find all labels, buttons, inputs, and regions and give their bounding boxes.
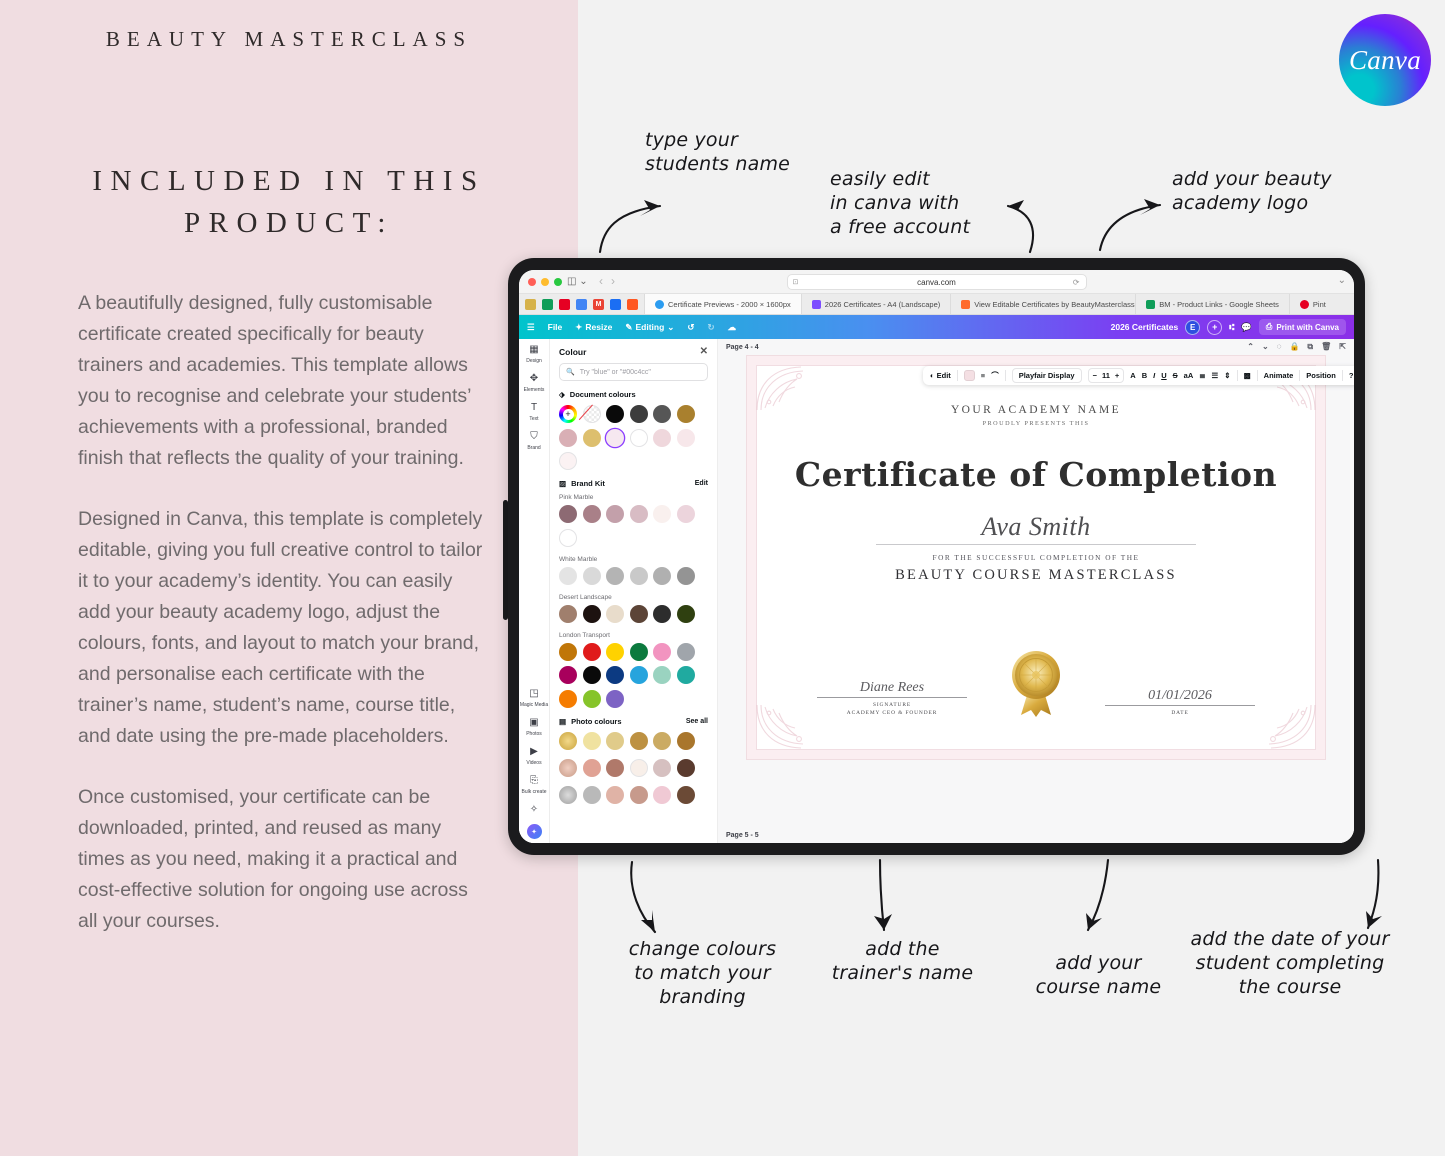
- strikethrough-button[interactable]: S: [1173, 371, 1178, 380]
- colour-swatch[interactable]: [630, 405, 648, 423]
- avatar[interactable]: E: [1185, 320, 1200, 335]
- minimize-window-icon[interactable]: [541, 278, 549, 286]
- certificate-title[interactable]: Certificate of Completion: [795, 455, 1277, 494]
- animate-button[interactable]: Animate: [1264, 371, 1294, 380]
- page-action-icons: ⌃ ⌄ ◌ 🔒 ⧉ 🗑 ⇱: [1247, 342, 1346, 352]
- rail-avatar-icon[interactable]: ✦: [527, 824, 542, 839]
- resize-label: Resize: [585, 322, 612, 332]
- divider: [1237, 370, 1238, 381]
- browser-window-actions[interactable]: ⌄: [1338, 275, 1346, 286]
- colour-swatch[interactable]: [653, 759, 671, 777]
- text-icon: T: [527, 400, 542, 415]
- tab-favicon-icon: [1300, 300, 1309, 309]
- colour-swatch[interactable]: [677, 666, 695, 684]
- document-colours-icon: ⬗: [559, 390, 565, 399]
- add-collaborator-icon[interactable]: +: [1207, 320, 1222, 335]
- position-button[interactable]: Position: [1306, 371, 1336, 380]
- tab-label: View Editable Certificates by BeautyMast…: [974, 300, 1135, 309]
- sidebar-item-label: Bulk create: [521, 789, 546, 795]
- colour-swatch[interactable]: [583, 505, 601, 523]
- divider: [1342, 370, 1343, 381]
- colour-swatch[interactable]: [606, 666, 624, 684]
- colour-swatch[interactable]: [583, 643, 601, 661]
- colour-swatch[interactable]: [653, 405, 671, 423]
- divider: [1005, 370, 1006, 381]
- tab-favicon-icon: [961, 300, 970, 309]
- gold-seal-icon[interactable]: [1005, 649, 1067, 717]
- certificate-date[interactable]: 01/01/2026: [1105, 688, 1255, 704]
- design-icon: ▦: [527, 342, 542, 357]
- edit-label: Edit: [937, 371, 951, 380]
- transparent-swatch[interactable]: [583, 405, 601, 423]
- colour-swatch[interactable]: [606, 759, 624, 777]
- page-header-row: Page 4 - 4 ⌃ ⌄ ◌ 🔒 ⧉ 🗑 ⇱: [718, 339, 1354, 355]
- annotation-add-course-name: add your course name: [1026, 952, 1171, 1000]
- decrease-font-size-button[interactable]: −: [1093, 371, 1097, 380]
- colour-swatch[interactable]: [559, 666, 577, 684]
- colour-swatch[interactable]: [583, 732, 601, 750]
- annotation-add-academy-logo: add your beauty academy logo: [1172, 168, 1372, 216]
- curve-text-icon[interactable]: ⌒: [991, 370, 999, 381]
- divider: [1257, 370, 1258, 381]
- address-bar[interactable]: ⊡ canva.com ⟳: [787, 274, 1087, 290]
- font-size-stepper[interactable]: − 11 +: [1088, 368, 1125, 383]
- colour-swatch[interactable]: [653, 643, 671, 661]
- colour-swatch[interactable]: [677, 786, 695, 804]
- date-line: [1105, 705, 1255, 706]
- colour-swatch[interactable]: [606, 690, 624, 708]
- font-size-value: 11: [1102, 371, 1110, 380]
- bullet-list-icon[interactable]: ☰: [1212, 371, 1219, 380]
- poster-page: BEAUTY MASTERCLASS INCLUDED IN THIS PROD…: [0, 0, 1445, 1156]
- align-icon[interactable]: ≡: [981, 371, 985, 380]
- move-down-icon[interactable]: ⌄: [1262, 342, 1269, 352]
- redo-icon[interactable]: ↻: [708, 322, 715, 333]
- tab-label: Certificate Previews - 2000 × 1600px: [668, 300, 791, 309]
- duplicate-page-icon[interactable]: ⧉: [1307, 342, 1313, 352]
- signature-line: [817, 697, 967, 698]
- description-copy: A beautifully designed, fully customisab…: [78, 288, 490, 967]
- effects-icon[interactable]: ▩: [1244, 371, 1251, 380]
- bold-button[interactable]: B: [1142, 371, 1147, 380]
- colour-swatch[interactable]: [583, 567, 601, 585]
- url-text: canva.com: [917, 278, 956, 287]
- videos-icon: ▶: [527, 744, 542, 759]
- close-window-icon[interactable]: [528, 278, 536, 286]
- brand-title: BEAUTY MASTERCLASS: [0, 24, 578, 56]
- browser-titlebar: ◫ ⌄ ‹› ⊡ canva.com ⟳ ⌄: [519, 270, 1354, 294]
- annotation-add-date: add the date of your student completing …: [1170, 928, 1410, 1000]
- colour-swatch[interactable]: [653, 732, 671, 750]
- colour-swatch[interactable]: [630, 605, 648, 623]
- photo-thumbnail-icon[interactable]: [559, 759, 577, 777]
- reload-icon[interactable]: ⟳: [1073, 278, 1080, 287]
- colour-swatch[interactable]: [677, 505, 695, 523]
- sidebar-item-magic-media[interactable]: ◳ Magic Media: [519, 686, 549, 708]
- text-align-icon[interactable]: ≣: [1199, 371, 1205, 380]
- signature-caption: SIGNATURE ACADEMY CEO & FOUNDER: [817, 701, 967, 717]
- elements-icon: ✥: [527, 371, 542, 386]
- canva-logo: Canva: [1339, 14, 1431, 106]
- colour-swatch[interactable]: [653, 429, 671, 447]
- colour-swatch[interactable]: [630, 666, 648, 684]
- colour-panel: Colour ✕ 🔍 Try "blue" or "#00c4cc" ⬗ Doc…: [550, 339, 718, 843]
- student-name-underline: [876, 544, 1196, 545]
- canva-canvas-area: ◐ Edit ≡ ⌒ Playfair Display − 11 + A: [718, 339, 1354, 843]
- colour-swatch[interactable]: [630, 429, 648, 447]
- colour-swatch[interactable]: [583, 786, 601, 804]
- reader-view-icon[interactable]: ⊡: [793, 278, 799, 286]
- header-right-actions: 2026 Certificates E + ⑆ 💬 ⎙ Print with C…: [1111, 319, 1346, 335]
- close-icon[interactable]: ✕: [700, 346, 708, 357]
- font-colour-icon[interactable]: A: [1130, 371, 1135, 380]
- text-colour-button[interactable]: [964, 370, 975, 381]
- colour-swatch[interactable]: [606, 786, 624, 804]
- photo-colours-header: ▤ Photo colours See all: [559, 717, 708, 726]
- palette-desert-landscape: [559, 605, 708, 623]
- resize-button[interactable]: ✦ Resize: [575, 322, 612, 333]
- page-label-top: Page 4 - 4: [726, 344, 759, 351]
- brand-kit-edit-link[interactable]: Edit: [695, 480, 708, 487]
- tab-label: 2026 Certificates - A4 (Landscape): [825, 300, 940, 309]
- colour-swatch[interactable]: [630, 567, 648, 585]
- signature-block[interactable]: Diane Rees SIGNATURE ACADEMY CEO & FOUND…: [817, 680, 967, 717]
- browser-tabstrip: M Certificate Previews - 2000 × 1600px 2…: [519, 294, 1354, 315]
- font-family-dropdown[interactable]: Playfair Display: [1012, 368, 1082, 383]
- sidebar-item-bulk-create[interactable]: ⎘ Bulk create: [519, 773, 549, 795]
- colour-swatch[interactable]: [677, 605, 695, 623]
- editing-label: Editing: [635, 322, 664, 332]
- brand-kit-icon: ▨: [559, 479, 566, 488]
- favicon-bookmark-5[interactable]: M: [593, 299, 604, 310]
- colour-swatch[interactable]: [653, 605, 671, 623]
- canva-left-rail: ▦ Design ✥ Elements T Text ⛉ Brand: [519, 339, 550, 843]
- colour-swatch[interactable]: [653, 505, 671, 523]
- browser-tab-pinterest[interactable]: Pint: [1289, 294, 1336, 314]
- photo-colours-row-2: [559, 759, 708, 777]
- edit-image-button[interactable]: ◐ Edit: [930, 371, 951, 380]
- annotation-add-trainers-name: add the trainer's name: [820, 938, 985, 986]
- colour-swatch[interactable]: [653, 786, 671, 804]
- tablet-screen: ◫ ⌄ ‹› ⊡ canva.com ⟳ ⌄ M: [519, 270, 1354, 843]
- colour-swatch[interactable]: [606, 605, 624, 623]
- canva-logo-text: Canva: [1349, 45, 1421, 76]
- undo-icon[interactable]: ↺: [687, 322, 694, 333]
- colour-swatch[interactable]: [606, 405, 624, 423]
- tab-favicon-icon: [655, 300, 664, 309]
- browser-nav-buttons[interactable]: ‹›: [599, 274, 623, 288]
- analytics-icon[interactable]: ⑆: [1229, 322, 1234, 332]
- colour-swatch[interactable]: [630, 505, 648, 523]
- colour-swatch-selected[interactable]: [606, 429, 624, 447]
- colour-swatch[interactable]: [630, 786, 648, 804]
- favicon-bookmark-1[interactable]: [525, 299, 536, 310]
- sidebar-item-photos[interactable]: ▣ Photos: [519, 715, 549, 737]
- browser-tab-view-editable-certificates[interactable]: View Editable Certificates by BeautyMast…: [950, 294, 1135, 314]
- document-colours-swatches: +: [559, 405, 708, 470]
- tab-favicon-icon: [1146, 300, 1155, 309]
- print-label: Print with Canva: [1276, 323, 1339, 332]
- colour-swatch[interactable]: [630, 759, 648, 777]
- colour-swatch[interactable]: [559, 429, 577, 447]
- paragraph-2: Designed in Canva, this template is comp…: [78, 504, 490, 752]
- page-footer-row: Page 5 - 5: [718, 828, 1354, 843]
- certificate-design[interactable]: YOUR ACADEMY NAME PROUDLY PRESENTS THIS …: [746, 355, 1326, 760]
- sidebar-item-text[interactable]: T Text: [519, 400, 549, 422]
- favicon-bookmark-4[interactable]: [576, 299, 587, 310]
- colour-search-input[interactable]: 🔍 Try "blue" or "#00c4cc": [559, 363, 708, 381]
- colour-swatch[interactable]: [677, 405, 695, 423]
- increase-font-size-button[interactable]: +: [1115, 371, 1119, 380]
- palette-label-london-transport: London Transport: [559, 632, 708, 639]
- sidebar-item-label: Elements: [524, 387, 545, 393]
- sidebar-item-label: Design: [526, 358, 542, 364]
- canva-workspace: ▦ Design ✥ Elements T Text ⛉ Brand: [519, 339, 1354, 843]
- sidebar-item-label: Text: [529, 416, 538, 422]
- colour-swatch[interactable]: [559, 567, 577, 585]
- colour-swatch[interactable]: [606, 505, 624, 523]
- colour-swatch[interactable]: [583, 605, 601, 623]
- sidebar-item-label: Magic Media: [520, 702, 548, 708]
- certificate-student-name[interactable]: Ava Smith: [981, 512, 1090, 542]
- photo-colours-row-1: [559, 732, 708, 750]
- photo-thumbnail-icon[interactable]: [559, 786, 577, 804]
- colour-swatch[interactable]: [583, 759, 601, 777]
- annotation-easily-edit-canva: easily edit in canva with a free account: [830, 168, 1030, 240]
- page-label-bottom: Page 5 - 5: [726, 832, 759, 839]
- palette-label-pink-marble: Pink Marble: [559, 494, 708, 501]
- design-title[interactable]: 2026 Certificates: [1111, 322, 1179, 332]
- move-up-icon[interactable]: ⌃: [1247, 342, 1254, 352]
- brand-icon: ⛉: [527, 429, 542, 444]
- colour-swatch[interactable]: [677, 429, 695, 447]
- colour-swatch[interactable]: [559, 643, 577, 661]
- divider: [957, 370, 958, 381]
- photo-colours-icon: ▤: [559, 717, 566, 726]
- italic-button[interactable]: I: [1153, 371, 1155, 380]
- certificate-for-the-completion: FOR THE SUCCESSFUL COMPLETION OF THE: [933, 553, 1140, 562]
- browser-tab-certificate-previews[interactable]: Certificate Previews - 2000 × 1600px: [644, 294, 801, 314]
- brand-kit-label: Brand Kit: [571, 479, 605, 488]
- sidebar-item-videos[interactable]: ▶ Videos: [519, 744, 549, 766]
- colour-swatch[interactable]: [559, 690, 577, 708]
- bulk-create-icon: ⎘: [527, 773, 542, 788]
- colour-swatch[interactable]: [606, 732, 624, 750]
- date-caption: DATE: [1105, 709, 1255, 717]
- colour-swatch[interactable]: [630, 732, 648, 750]
- colour-panel-header: Colour ✕: [559, 346, 708, 357]
- sidebar-item-label: Brand: [527, 445, 540, 451]
- maximize-window-icon[interactable]: [554, 278, 562, 286]
- certificate-academy-name[interactable]: YOUR ACADEMY NAME: [951, 404, 1121, 416]
- sidebar-item-label: Videos: [526, 760, 541, 766]
- annotation-change-colours: change colours to match your branding: [620, 938, 785, 1010]
- certificate-proudly-presents: PROUDLY PRESENTS THIS: [983, 420, 1090, 427]
- signature-name[interactable]: Diane Rees: [817, 680, 967, 696]
- palette-label-white-marble: White Marble: [559, 556, 708, 563]
- print-with-canva-button[interactable]: ⎙ Print with Canva: [1259, 319, 1346, 335]
- apps-icon: ✧: [527, 802, 542, 817]
- photo-colours-row-3: [559, 786, 708, 804]
- favicon-bookmark-6[interactable]: [610, 299, 621, 310]
- search-placeholder: Try "blue" or "#00c4cc": [580, 369, 651, 376]
- palette-label-desert-landscape: Desert Landscape: [559, 594, 708, 601]
- window-traffic-lights[interactable]: [528, 278, 562, 286]
- left-info-panel: BEAUTY MASTERCLASS INCLUDED IN THIS PROD…: [0, 0, 578, 1156]
- date-block[interactable]: 01/01/2026 DATE: [1105, 688, 1255, 717]
- sidebar-item-apps[interactable]: ✧: [519, 802, 549, 817]
- palette-pink-marble: [559, 505, 708, 547]
- certificate-course-name[interactable]: BEAUTY COURSE MASTERCLASS: [895, 567, 1177, 584]
- certificate-footer: Diane Rees SIGNATURE ACADEMY CEO & FOUND…: [747, 649, 1325, 717]
- colour-swatch[interactable]: [559, 452, 577, 470]
- palette-london-transport: [559, 643, 708, 708]
- colour-swatch[interactable]: [677, 732, 695, 750]
- add-colour-swatch[interactable]: +: [559, 405, 577, 423]
- favicon-bookmark-7[interactable]: [627, 299, 638, 310]
- colour-swatch[interactable]: [583, 429, 601, 447]
- colour-swatch[interactable]: [677, 567, 695, 585]
- lock-icon[interactable]: 🔒: [1289, 342, 1299, 352]
- document-colours-label: Document colours: [570, 390, 636, 399]
- photos-icon: ▣: [527, 715, 542, 730]
- colour-swatch[interactable]: [653, 666, 671, 684]
- paragraph-1: A beautifully designed, fully customisab…: [78, 288, 490, 474]
- favicon-bookmark-2[interactable]: [542, 299, 553, 310]
- canva-app-header: ☰ File ✦ Resize ✎ Editing ⌄ ↺ ↻ ☁ 2026 C…: [519, 315, 1354, 339]
- editing-mode-dropdown[interactable]: ✎ Editing ⌄: [625, 322, 674, 333]
- brand-kit-header: ▨ Brand Kit Edit: [559, 479, 708, 488]
- search-icon: 🔍: [566, 368, 575, 376]
- expand-page-icon[interactable]: ⇱: [1339, 342, 1346, 352]
- favourites-bar[interactable]: M: [519, 294, 644, 314]
- paragraph-3: Once customised, your certificate can be…: [78, 782, 490, 937]
- text-format-toolbar: ◐ Edit ≡ ⌒ Playfair Display − 11 + A: [923, 366, 1354, 385]
- photo-colours-see-all-link[interactable]: See all: [686, 718, 708, 725]
- colour-swatch[interactable]: [559, 529, 577, 547]
- colour-panel-title: Colour: [559, 347, 586, 357]
- colour-swatch[interactable]: [606, 567, 624, 585]
- colour-swatch[interactable]: [630, 643, 648, 661]
- browser-tab-2026-certificates[interactable]: 2026 Certificates - A4 (Landscape): [801, 294, 950, 314]
- colour-swatch[interactable]: [583, 690, 601, 708]
- colour-swatch[interactable]: [559, 505, 577, 523]
- colour-swatch[interactable]: [606, 643, 624, 661]
- sidebar-toggle-icon[interactable]: ◫ ⌄: [567, 276, 588, 287]
- divider: [1299, 370, 1300, 381]
- tablet-device: ◫ ⌄ ‹› ⊡ canva.com ⟳ ⌄ M: [508, 258, 1365, 855]
- letter-case-button[interactable]: aA: [1184, 371, 1194, 380]
- browser-tab-google-sheets[interactable]: BM - Product Links - Google Sheets: [1135, 294, 1289, 314]
- tab-favicon-icon: [812, 300, 821, 309]
- page-title: INCLUDED IN THIS PRODUCT:: [0, 160, 578, 244]
- underline-button[interactable]: U: [1161, 371, 1166, 380]
- line-spacing-icon[interactable]: ⇕: [1224, 371, 1230, 380]
- hamburger-icon[interactable]: ☰: [527, 322, 535, 333]
- sidebar-item-design[interactable]: ▦ Design: [519, 342, 549, 364]
- magic-media-icon: ◳: [527, 686, 542, 701]
- palette-white-marble: [559, 567, 708, 585]
- document-colours-header: ⬗ Document colours: [559, 390, 708, 399]
- sidebar-item-elements[interactable]: ✥ Elements: [519, 371, 549, 393]
- colour-swatch[interactable]: [583, 666, 601, 684]
- colour-swatch[interactable]: [559, 605, 577, 623]
- colour-swatch[interactable]: [677, 643, 695, 661]
- delete-page-icon[interactable]: 🗑: [1321, 342, 1331, 352]
- hide-page-icon[interactable]: ◌: [1277, 342, 1282, 352]
- tab-label: Pint: [1313, 300, 1326, 309]
- tab-label: BM - Product Links - Google Sheets: [1159, 300, 1279, 309]
- sidebar-item-label: Photos: [526, 731, 542, 737]
- cloud-save-icon[interactable]: ☁: [728, 322, 737, 333]
- file-menu-button[interactable]: File: [548, 322, 563, 332]
- favicon-bookmark-3[interactable]: [559, 299, 570, 310]
- photo-colours-label: Photo colours: [571, 717, 621, 726]
- annotation-type-students-name: type your students name: [645, 129, 815, 177]
- photo-thumbnail-icon[interactable]: [559, 732, 577, 750]
- certificate-canvas[interactable]: YOUR ACADEMY NAME PROUDLY PRESENTS THIS …: [718, 355, 1354, 828]
- colour-swatch[interactable]: [677, 759, 695, 777]
- sidebar-item-brand[interactable]: ⛉ Brand: [519, 429, 549, 451]
- comment-icon[interactable]: 💬: [1241, 322, 1252, 333]
- help-icon[interactable]: ?: [1349, 371, 1354, 380]
- colour-swatch[interactable]: [653, 567, 671, 585]
